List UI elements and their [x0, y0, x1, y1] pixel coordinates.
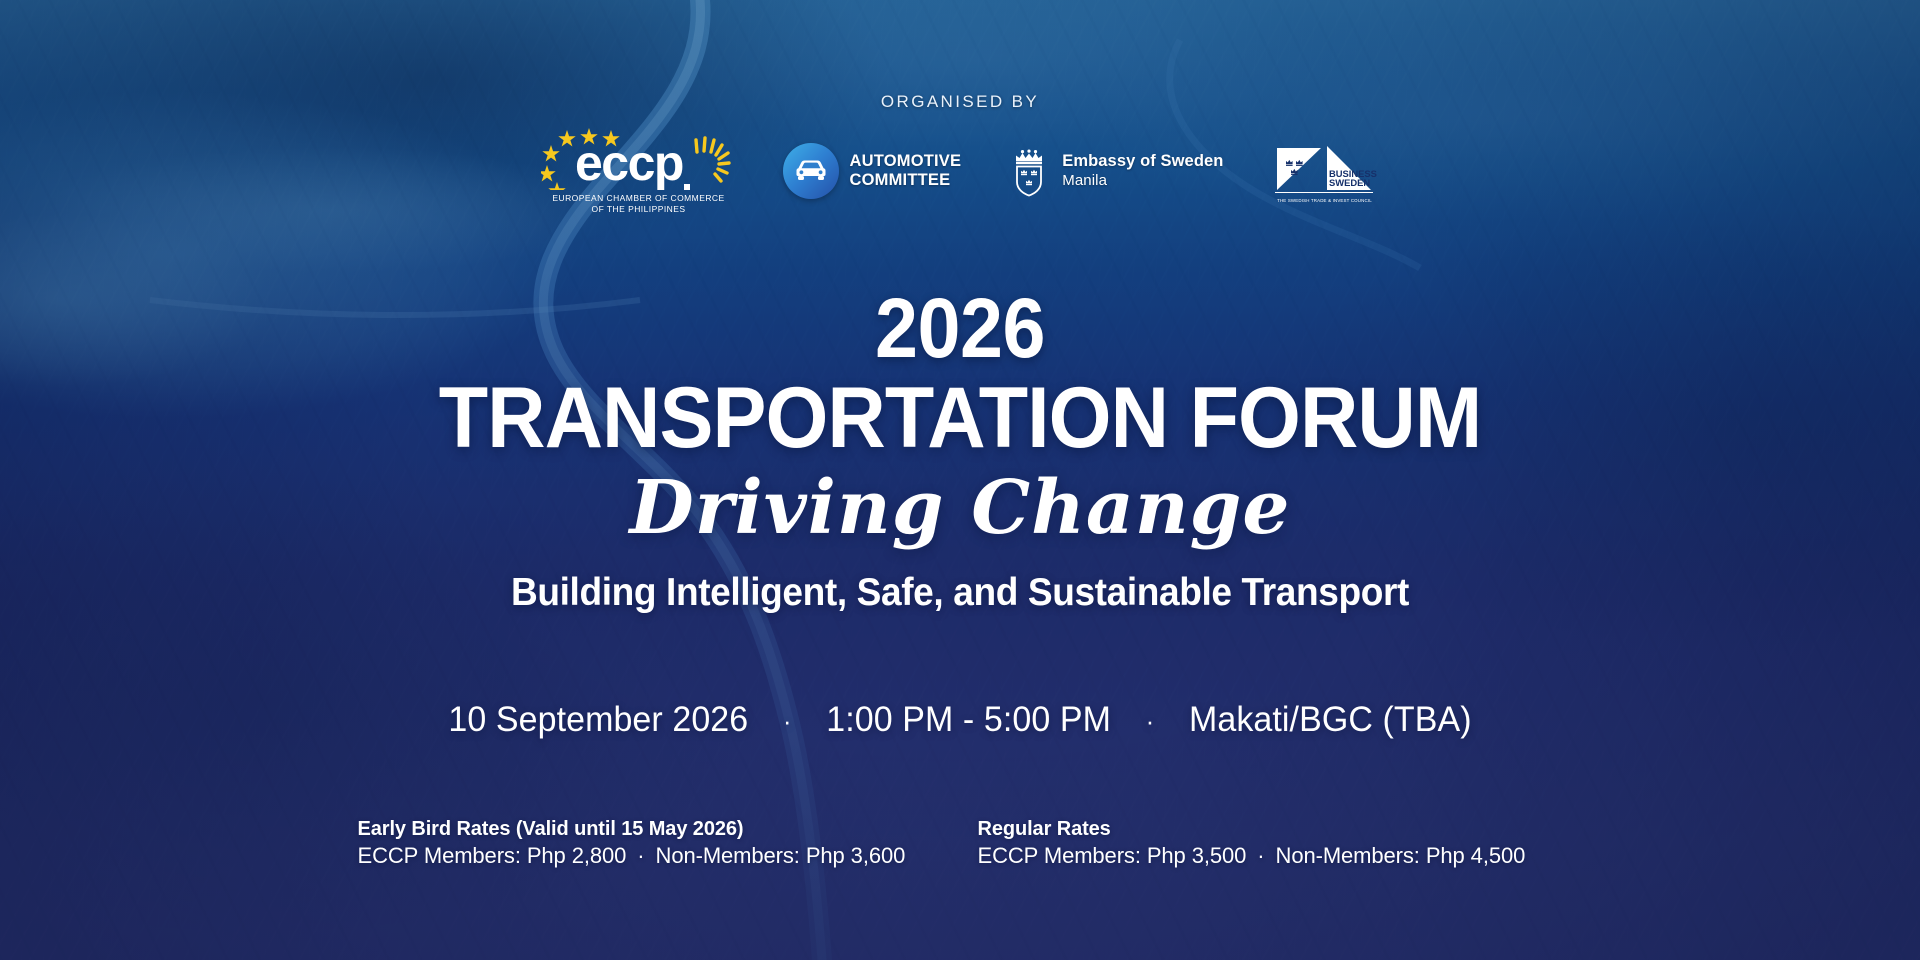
- regular-nonmember-price: Non-Members: Php 4,500: [1276, 843, 1526, 868]
- eccp-subtext: EUROPEAN CHAMBER OF COMMERCE OF THE PHIL…: [552, 193, 724, 214]
- regular-member-price: ECCP Members: Php 3,500: [978, 843, 1247, 868]
- regular-rates-block: Regular Rates ECCP Members: Php 3,500 · …: [978, 816, 1563, 871]
- embassy-sweden-line1: Embassy of Sweden: [1062, 152, 1223, 171]
- regular-rates-heading: Regular Rates: [978, 816, 1563, 842]
- regular-separator: ·: [1252, 843, 1269, 868]
- early-bird-member-price: ECCP Members: Php 2,800: [358, 843, 627, 868]
- script-tagline: Driving Change: [0, 463, 1920, 553]
- bsweden-line2: SWEDEN: [1329, 177, 1370, 188]
- organiser-logo-row: eccp: [0, 128, 1920, 214]
- early-bird-separator: ·: [632, 843, 649, 868]
- rates-section: Early Bird Rates (Valid until 15 May 202…: [0, 816, 1920, 871]
- sunburst-icon: [696, 138, 729, 181]
- bsweden-tagline: THE SWEDISH TRADE & INVEST COUNCIL: [1269, 198, 1379, 203]
- details-separator-1: ·: [758, 706, 817, 737]
- details-separator-2: ·: [1121, 706, 1180, 737]
- early-bird-prices: ECCP Members: Php 2,800 · Non-Members: P…: [358, 842, 948, 871]
- early-bird-nonmember-price: Non-Members: Php 3,600: [656, 843, 906, 868]
- svg-text:eccp: eccp: [575, 135, 683, 190]
- early-bird-rates-block: Early Bird Rates (Valid until 15 May 202…: [358, 816, 948, 871]
- bsweden-triangle-left: [1277, 148, 1321, 190]
- logo-eccp: eccp: [541, 128, 737, 214]
- regular-rates-prices: ECCP Members: Php 3,500 · Non-Members: P…: [978, 842, 1563, 871]
- car-icon: [793, 158, 829, 184]
- event-venue: Makati/BGC (TBA): [1189, 700, 1472, 739]
- three-crowns-shield-icon: [1007, 145, 1051, 197]
- eccp-letters: eccp: [575, 135, 683, 190]
- logo-automotive-committee: AUTOMOTIVE COMMITTEE: [783, 143, 962, 199]
- organised-by-label: ORGANISED BY: [0, 92, 1920, 112]
- event-banner: ORGANISED BY: [0, 0, 1920, 960]
- event-subtitle: Building Intelligent, Safe, and Sustaina…: [48, 571, 1872, 615]
- event-time: 1:00 PM - 5:00 PM: [826, 700, 1111, 739]
- event-year: 2026: [77, 288, 1843, 369]
- event-date: 10 September 2026: [448, 700, 748, 739]
- automotive-committee-label: AUTOMOTIVE COMMITTEE: [850, 152, 962, 190]
- event-details-line: 10 September 2026 · 1:00 PM - 5:00 PM · …: [29, 700, 1891, 740]
- embassy-sweden-line2: Manila: [1062, 172, 1223, 190]
- logo-business-sweden: BUSINESS SWEDEN THE SWEDISH TRADE & INVE…: [1269, 140, 1379, 202]
- early-bird-heading: Early Bird Rates (Valid until 15 May 202…: [358, 816, 948, 842]
- eccp-square-dot: [684, 184, 690, 190]
- logo-embassy-of-sweden: Embassy of Sweden Manila: [1007, 145, 1223, 197]
- page-title: TRANSPORTATION FORUM: [58, 375, 1863, 461]
- automotive-badge: [783, 143, 839, 199]
- headline-block: 2026 TRANSPORTATION FORUM Driving Change…: [0, 288, 1920, 615]
- eccp-wordmark-mark: eccp: [541, 128, 737, 190]
